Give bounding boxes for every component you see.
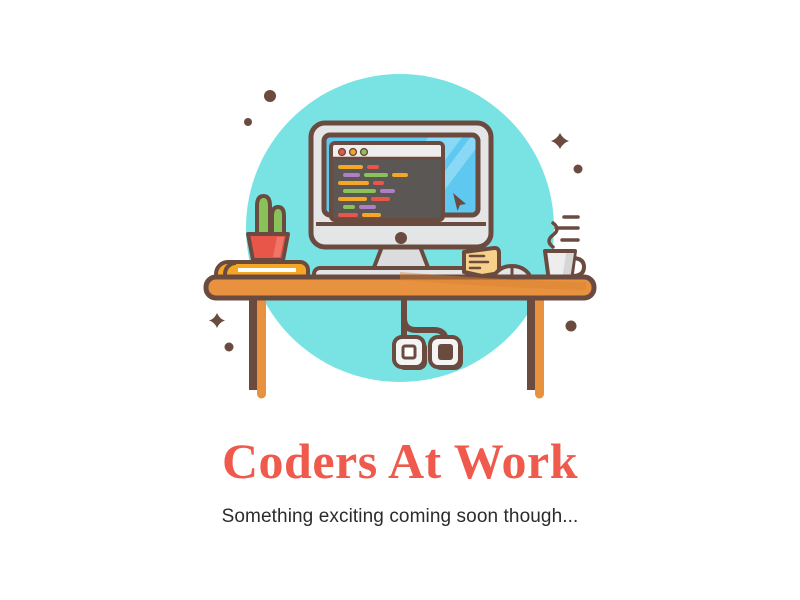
code-token: [343, 205, 355, 209]
code-token: [343, 173, 360, 177]
dot-top-left-large-icon: [264, 90, 276, 102]
sparkle-bottom-left-icon: [209, 313, 225, 328]
desk-leg-left-shadow: [249, 296, 257, 390]
code-editor-window[interactable]: [331, 143, 443, 220]
power-adapter-left-inner: [403, 346, 415, 358]
code-token: [364, 173, 388, 177]
desk-leg-right: [535, 296, 544, 394]
code-token: [343, 189, 376, 193]
cactus-stem-right: [272, 207, 284, 236]
caption-block: Coders At Work Something exciting coming…: [0, 430, 800, 530]
code-token: [338, 165, 363, 169]
minimize-dot-icon[interactable]: [350, 149, 357, 156]
code-token: [338, 181, 369, 185]
dot-right-icon: [574, 165, 583, 174]
close-dot-icon[interactable]: [339, 149, 346, 156]
code-token: [380, 189, 395, 193]
cactus-stem-left: [257, 196, 270, 234]
page-subtitle: Something exciting coming soon though...: [0, 504, 800, 530]
code-token: [362, 213, 381, 217]
code-token: [367, 165, 379, 169]
maximize-dot-icon[interactable]: [361, 149, 368, 156]
sticky-note: [464, 248, 499, 276]
coders-at-work-illustration: [0, 0, 800, 420]
desk-top: [206, 272, 594, 298]
illustration-svg: [0, 0, 800, 420]
page-title: Coders At Work: [0, 430, 800, 492]
desk-leg-right-foot: [535, 386, 544, 399]
code-token: [371, 197, 390, 201]
code-token: [338, 197, 367, 201]
dot-top-left-small-icon: [244, 118, 252, 126]
imac-monitor: [311, 123, 491, 270]
code-token: [359, 205, 376, 209]
page-root: Coders At Work Something exciting coming…: [0, 0, 800, 600]
dot-bottom-left-icon: [225, 343, 234, 352]
sparkle-top-right-icon: [551, 133, 569, 149]
monitor-logo-dot-icon: [395, 232, 407, 244]
dot-bottom-right-icon: [566, 321, 577, 332]
code-token: [392, 173, 408, 177]
desk-leg-left-foot: [257, 386, 266, 399]
code-token: [338, 213, 358, 217]
desk-leg-left: [257, 296, 266, 394]
code-token: [373, 181, 384, 185]
power-adapter-right-inner: [438, 344, 453, 360]
desk-leg-right-shadow: [527, 296, 535, 390]
